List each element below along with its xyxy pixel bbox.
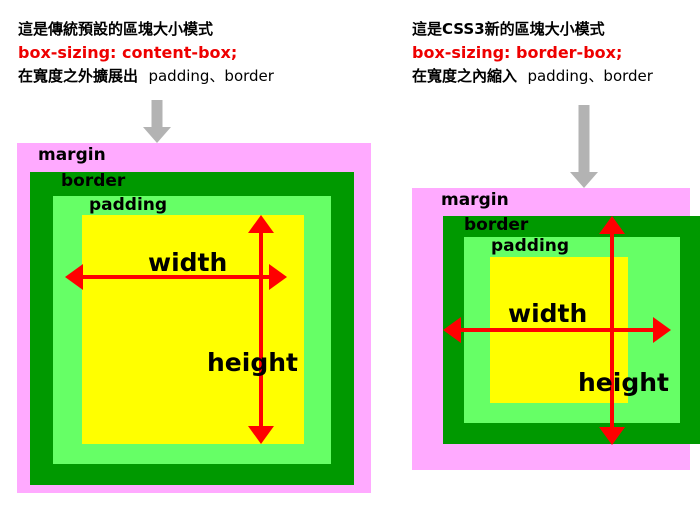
height-arrow-shaft (610, 229, 614, 432)
caption-content-box: 這是傳統預設的區塊大小模式 box-sizing: content-box; 在… (18, 22, 274, 84)
caption-left-line1: 這是傳統預設的區塊大小模式 (18, 22, 274, 37)
margin-label: margin (38, 147, 106, 164)
border-label: border (61, 173, 125, 190)
caption-left-line3-en: padding、border (148, 67, 273, 85)
margin-label: margin (441, 192, 509, 209)
caption-right-line3: 在寬度之內縮入 padding、border (412, 69, 653, 84)
caption-left-line3: 在寬度之外擴展出 padding、border (18, 69, 274, 84)
diagram-canvas: 這是傳統預設的區塊大小模式 box-sizing: content-box; 在… (0, 0, 700, 514)
caption-right-line3-zh: 在寬度之內縮入 (412, 67, 517, 85)
down-arrow-shaft (579, 105, 590, 172)
caption-left-code: box-sizing: content-box; (18, 45, 274, 61)
border-label: border (464, 217, 528, 234)
down-arrow-head (143, 127, 171, 143)
height-arrow-head-bottom (248, 426, 274, 444)
height-arrow-shaft (259, 228, 263, 431)
width-label: width (148, 250, 227, 275)
height-arrow-icon (599, 216, 625, 445)
down-arrow-icon (570, 105, 598, 188)
down-arrow-shaft (152, 100, 163, 127)
caption-border-box: 這是CSS3新的區塊大小模式 box-sizing: border-box; 在… (412, 22, 653, 84)
down-arrow-head (570, 172, 598, 188)
down-arrow-icon (143, 100, 171, 143)
caption-left-line3-zh: 在寬度之外擴展出 (18, 67, 138, 85)
box-model-content-box: margin border padding (17, 143, 371, 493)
height-label: height (578, 370, 669, 395)
padding-label: padding (491, 238, 569, 255)
height-arrow-icon (248, 215, 274, 444)
width-arrow-head-right (653, 317, 671, 343)
height-arrow-head-bottom (599, 427, 625, 445)
caption-right-line1: 這是CSS3新的區塊大小模式 (412, 22, 653, 37)
width-label: width (508, 301, 587, 326)
caption-right-line3-en: padding、border (527, 67, 652, 85)
padding-label: padding (89, 197, 167, 214)
width-arrow-shaft (456, 328, 658, 332)
height-label: height (207, 350, 298, 375)
caption-right-code: box-sizing: border-box; (412, 45, 653, 61)
